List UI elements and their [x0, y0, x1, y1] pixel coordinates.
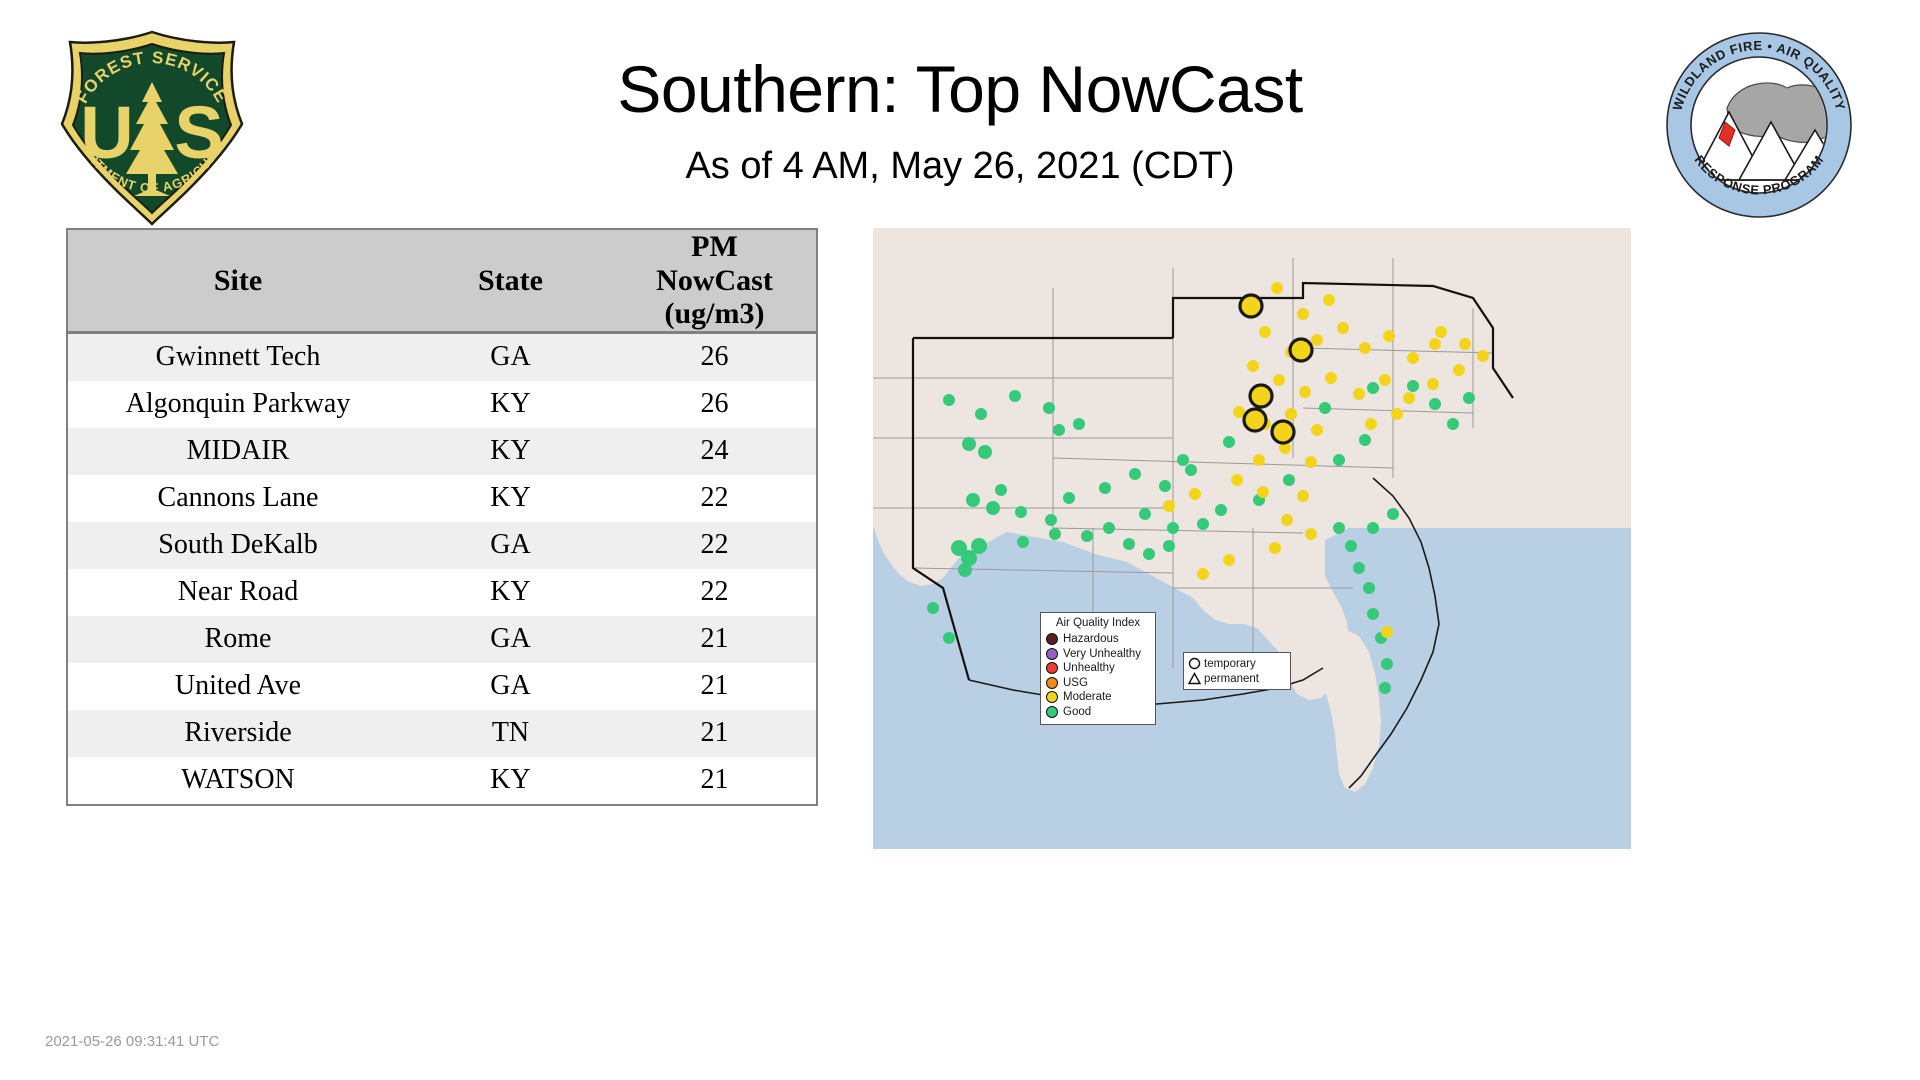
- table-row[interactable]: WATSONKY21: [68, 757, 816, 804]
- column-header-state[interactable]: State: [408, 230, 613, 332]
- cell-state: KY: [408, 428, 613, 475]
- table-header-row: Site State PM NowCast (ug/m3): [68, 230, 816, 332]
- table-row[interactable]: Gwinnett TechGA26: [68, 332, 816, 381]
- cell-state: TN: [408, 710, 613, 757]
- cell-state: GA: [408, 663, 613, 710]
- footer-generated-timestamp: 2021-05-26 09:31:41 UTC: [45, 1033, 219, 1050]
- cell-pm-nowcast: 26: [613, 332, 816, 381]
- aqi-legend-row: Very Unhealthy: [1046, 647, 1150, 662]
- cell-site: Near Road: [68, 569, 408, 616]
- cell-pm-nowcast: 24: [613, 428, 816, 475]
- usda-forest-service-shield-logo: FOREST SERVICE DEPARTMENT OF AGRICULTURE…: [52, 28, 252, 228]
- cell-site: Riverside: [68, 710, 408, 757]
- aqi-legend-swatch: [1046, 677, 1058, 689]
- marker-legend-temporary-label: temporary: [1204, 658, 1256, 670]
- fs-logo-letter-s: S: [174, 91, 223, 174]
- cell-site: Rome: [68, 616, 408, 663]
- aqi-legend-label: Unhealthy: [1063, 662, 1115, 674]
- table-row[interactable]: Near RoadKY22: [68, 569, 816, 616]
- cell-pm-nowcast: 22: [613, 522, 816, 569]
- page-subtitle-timestamp: As of 4 AM, May 26, 2021 (CDT): [360, 145, 1560, 188]
- column-header-pm-nowcast[interactable]: PM NowCast (ug/m3): [613, 230, 816, 332]
- table-row[interactable]: MIDAIRKY24: [68, 428, 816, 475]
- aqi-legend-swatch: [1046, 648, 1058, 660]
- air-quality-map[interactable]: Air Quality Index HazardousVery Unhealth…: [873, 228, 1631, 849]
- cell-pm-nowcast: 21: [613, 663, 816, 710]
- aqi-legend-swatch: [1046, 691, 1058, 703]
- aqi-legend-swatch: [1046, 706, 1058, 718]
- cell-pm-nowcast: 22: [613, 569, 816, 616]
- cell-state: KY: [408, 475, 613, 522]
- aqi-legend-label: USG: [1063, 677, 1088, 689]
- table-row[interactable]: RomeGA21: [68, 616, 816, 663]
- cell-site: South DeKalb: [68, 522, 408, 569]
- aqi-legend-row: Good: [1046, 705, 1150, 720]
- fs-logo-letter-u: U: [80, 91, 133, 174]
- cell-state: KY: [408, 381, 613, 428]
- aqi-legend-swatch: [1046, 662, 1058, 674]
- page-title: Southern: Top NowCast: [360, 55, 1560, 124]
- cell-site: Algonquin Parkway: [68, 381, 408, 428]
- cell-state: GA: [408, 616, 613, 663]
- table-row[interactable]: Cannons LaneKY22: [68, 475, 816, 522]
- column-header-site[interactable]: Site: [68, 230, 408, 332]
- column-header-pm-line1: PM: [613, 230, 816, 264]
- map-graphic: [873, 228, 1631, 849]
- cell-site: Cannons Lane: [68, 475, 408, 522]
- cell-state: GA: [408, 522, 613, 569]
- page-header: FOREST SERVICE DEPARTMENT OF AGRICULTURE…: [0, 0, 1920, 220]
- cell-pm-nowcast: 21: [613, 616, 816, 663]
- aqi-legend-row: Hazardous: [1046, 632, 1150, 647]
- table-row[interactable]: Algonquin ParkwayKY26: [68, 381, 816, 428]
- aqi-legend-row: Moderate: [1046, 690, 1150, 705]
- aqi-legend-row: USG: [1046, 676, 1150, 691]
- aqi-legend-label: Moderate: [1063, 691, 1112, 703]
- table-header: Site State PM NowCast (ug/m3): [68, 230, 816, 332]
- table-row[interactable]: United AveGA21: [68, 663, 816, 710]
- table-body: Gwinnett TechGA26Algonquin ParkwayKY26MI…: [68, 332, 816, 804]
- marker-legend-permanent-label: permanent: [1204, 673, 1259, 685]
- aqi-legend-label: Very Unhealthy: [1063, 648, 1141, 660]
- cell-pm-nowcast: 22: [613, 475, 816, 522]
- aqi-legend-row: Unhealthy: [1046, 661, 1150, 676]
- top-nowcast-table: Site State PM NowCast (ug/m3) Gwinnett T…: [68, 230, 816, 804]
- cell-pm-nowcast: 21: [613, 710, 816, 757]
- wildland-fire-air-quality-badge: WILDLAND FIRE • AIR QUALITY RESPONSE PRO…: [1663, 30, 1855, 220]
- aqi-legend-rows: HazardousVery UnhealthyUnhealthyUSGModer…: [1046, 632, 1150, 719]
- cell-site: WATSON: [68, 757, 408, 804]
- cell-state: KY: [408, 569, 613, 616]
- temporary-marker-icon: [1188, 657, 1201, 670]
- cell-state: GA: [408, 332, 613, 381]
- aqi-legend-title: Air Quality Index: [1046, 617, 1150, 629]
- marker-type-legend: temporary permanent: [1183, 652, 1291, 690]
- cell-state: KY: [408, 757, 613, 804]
- aqi-legend-label: Good: [1063, 706, 1091, 718]
- column-header-pm-line3: (ug/m3): [613, 297, 816, 331]
- cell-site: MIDAIR: [68, 428, 408, 475]
- column-header-pm-line2: NowCast: [613, 264, 816, 298]
- cell-site: Gwinnett Tech: [68, 332, 408, 381]
- aqi-legend: Air Quality Index HazardousVery Unhealth…: [1040, 612, 1156, 725]
- permanent-marker-icon: [1188, 672, 1201, 685]
- marker-legend-temporary: temporary: [1188, 656, 1286, 671]
- marker-legend-permanent: permanent: [1188, 671, 1286, 686]
- cell-pm-nowcast: 26: [613, 381, 816, 428]
- cell-site: United Ave: [68, 663, 408, 710]
- aqi-legend-swatch: [1046, 633, 1058, 645]
- aqi-legend-label: Hazardous: [1063, 633, 1119, 645]
- cell-pm-nowcast: 21: [613, 757, 816, 804]
- table-row[interactable]: RiversideTN21: [68, 710, 816, 757]
- top-nowcast-table-panel: Site State PM NowCast (ug/m3) Gwinnett T…: [66, 228, 818, 806]
- table-row[interactable]: South DeKalbGA22: [68, 522, 816, 569]
